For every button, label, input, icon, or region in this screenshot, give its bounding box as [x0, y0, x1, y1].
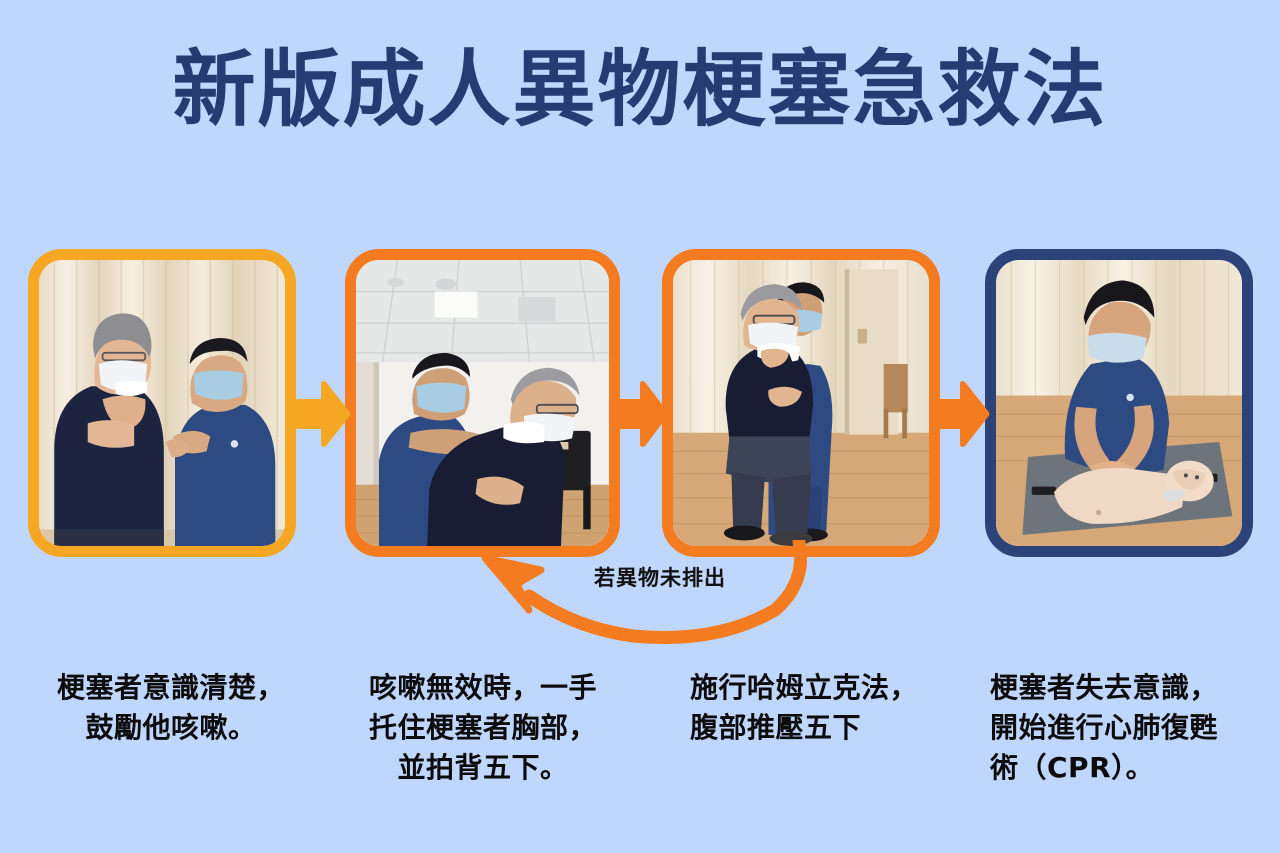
- photo-choking-person-holding-throat: [39, 260, 285, 546]
- feedback-loop-arrow-step3-to-step2: [455, 540, 855, 650]
- step-photo-panel-3: [662, 249, 940, 557]
- step-caption-4: 梗塞者失去意識， 開始進行心肺復甦 術（CPR）。: [990, 668, 1280, 787]
- photo-cpr-on-manikin: [996, 260, 1242, 546]
- photo-back-blows: [356, 260, 609, 546]
- step-photo-panel-4: [985, 249, 1253, 557]
- step-caption-2: 咳嗽無效時，一手 托住梗塞者胸部， 並拍背五下。: [338, 668, 628, 787]
- page-title: 新版成人異物梗塞急救法: [0, 46, 1280, 133]
- step-caption-3: 施行哈姆立克法， 腹部推壓五下: [690, 668, 980, 748]
- arrow-step2-to-step3: [613, 377, 670, 451]
- caption-row: 梗塞者意識清楚， 鼓勵他咳嗽。 咳嗽無效時，一手 托住梗塞者胸部， 並拍背五下。…: [0, 668, 1280, 828]
- arrow-step3-to-step4: [931, 377, 991, 451]
- step-caption-1: 梗塞者意識清楚， 鼓勵他咳嗽。: [26, 668, 316, 748]
- step-photo-panel-1: [28, 249, 296, 557]
- step-photo-panel-2: [345, 249, 620, 557]
- photo-heimlich-maneuver: [673, 260, 929, 546]
- arrow-step1-to-step2: [292, 377, 352, 451]
- feedback-loop-label: 若異物未排出: [560, 562, 760, 592]
